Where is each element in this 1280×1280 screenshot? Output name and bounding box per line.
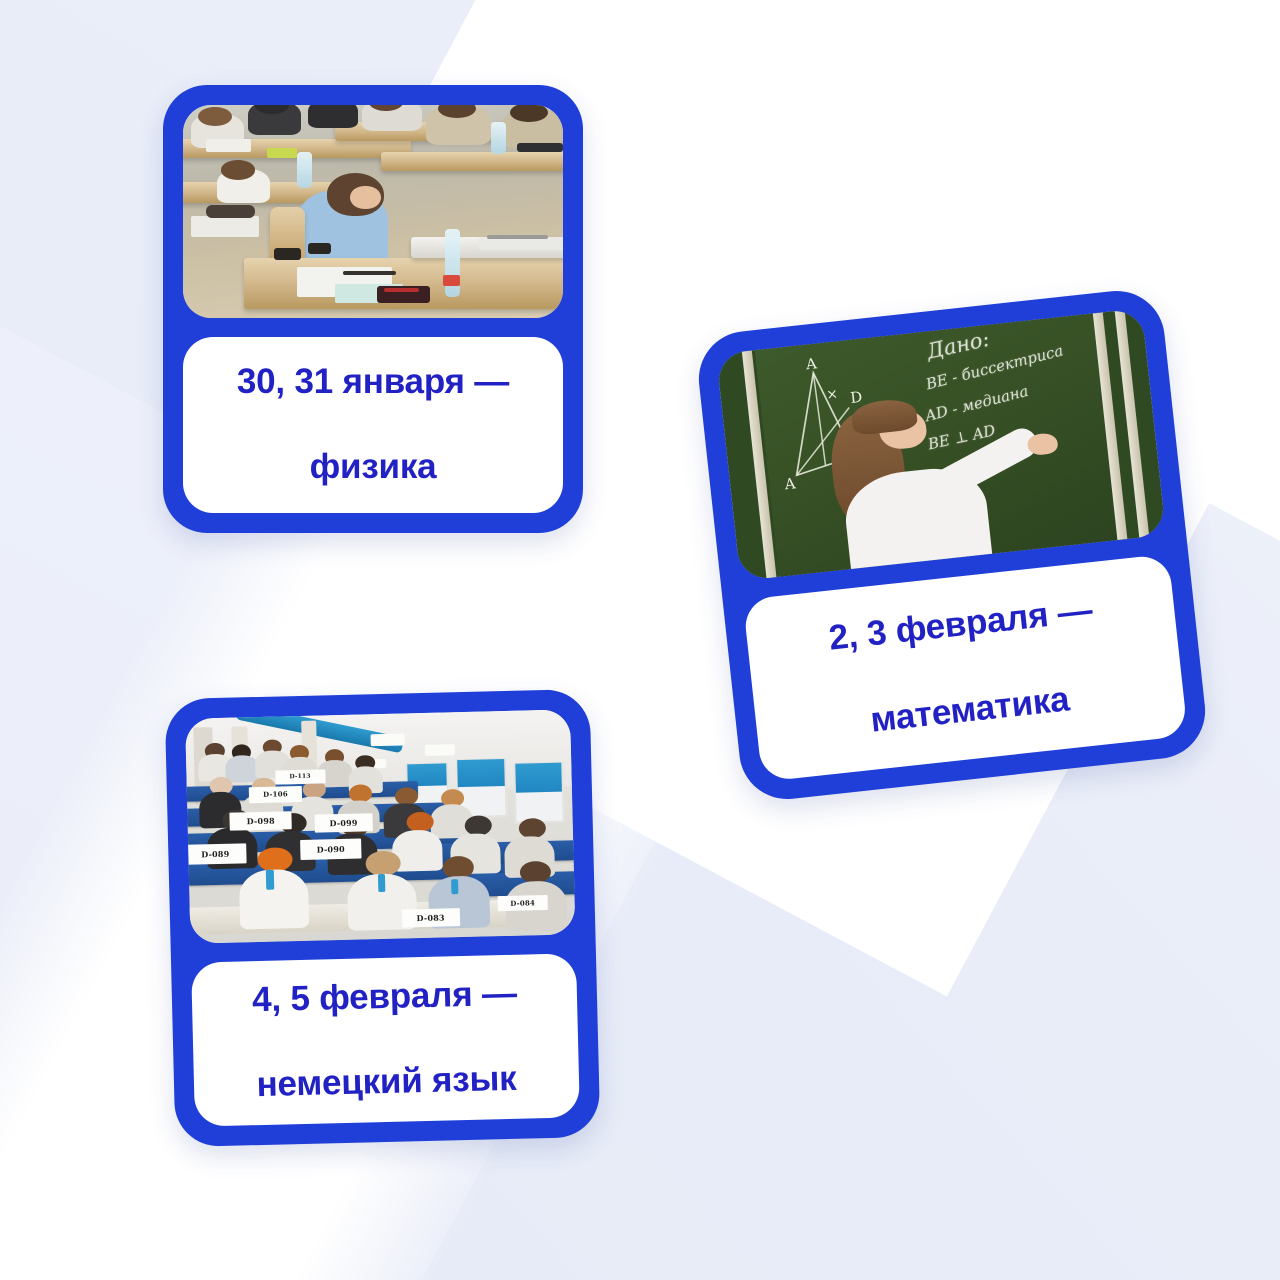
physics-classroom-photo — [183, 105, 563, 318]
german-photo-art: D-089 D-090 D-098 D-099 D-106 D-083 D-08… — [185, 709, 575, 943]
math-chalkboard-photo: A A D C × Дано: BE - биссектриса AD - ме… — [716, 308, 1166, 581]
svg-text:D: D — [849, 388, 863, 407]
math-photo-art: A A D C × Дано: BE - биссектриса AD - ме… — [716, 308, 1166, 581]
math-card-label: 2, 3 февраля — математика — [743, 554, 1188, 782]
poster-canvas: 30, 31 января — физика A A D C — [0, 0, 1280, 1280]
physics-card-label: 30, 31 января — физика — [183, 337, 563, 513]
seat-tag-098: D-098 — [230, 811, 292, 830]
schedule-card-german[interactable]: D-089 D-090 D-098 D-099 D-106 D-083 D-08… — [165, 689, 601, 1147]
seat-tag-113: D-113 — [275, 769, 325, 784]
schedule-card-physics[interactable]: 30, 31 января — физика — [163, 85, 583, 533]
german-card-label: 4, 5 февраля — немецкий язык — [191, 953, 580, 1126]
math-card-date: 2, 3 февраля — — [827, 590, 1095, 661]
physics-card-date: 30, 31 января — — [237, 361, 509, 404]
seat-tag-083: D-083 — [402, 908, 460, 927]
german-card-date: 4, 5 февраля — — [252, 973, 518, 1022]
seat-tag-090: D-090 — [300, 838, 362, 860]
physics-photo-art — [183, 105, 563, 318]
physics-card-subject: физика — [237, 446, 509, 489]
schedule-card-math[interactable]: A A D C × Дано: BE - биссектриса AD - ме… — [694, 286, 1210, 804]
svg-text:×: × — [825, 386, 838, 403]
seat-tag-106: D-106 — [248, 786, 302, 803]
seat-tag-089: D-089 — [185, 843, 246, 865]
lecture-hall-photo: D-089 D-090 D-098 D-099 D-106 D-083 D-08… — [185, 709, 575, 943]
svg-text:A: A — [782, 474, 796, 493]
seat-tag-084: D-084 — [497, 894, 547, 911]
seat-tag-099: D-099 — [315, 813, 373, 832]
german-card-subject: немецкий язык — [254, 1058, 520, 1107]
math-card-subject: математика — [836, 675, 1104, 746]
